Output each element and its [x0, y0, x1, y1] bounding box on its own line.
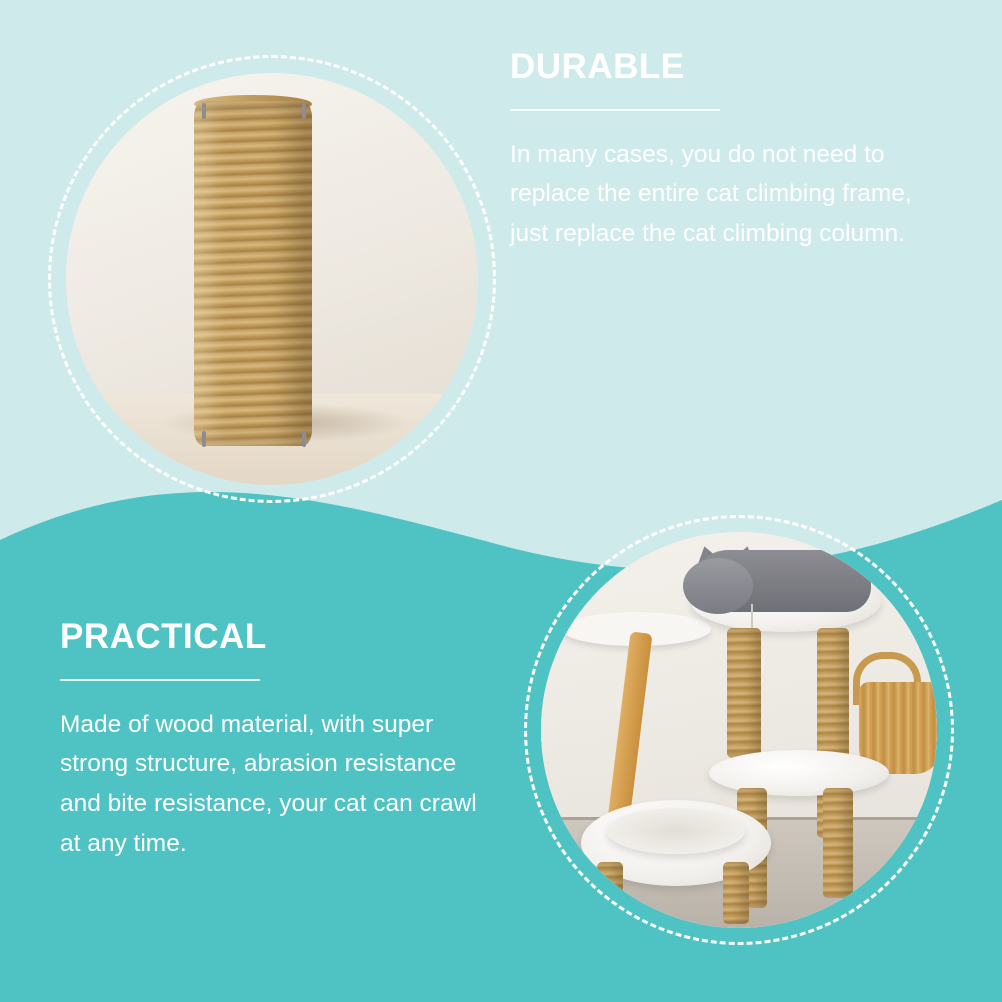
durable-body-text: In many cases, you do not need to replac…: [510, 135, 940, 254]
durable-text-block: DURABLE In many cases, you do not need t…: [510, 48, 940, 254]
practical-text-block: PRACTICAL Made of wood material, with su…: [60, 618, 490, 863]
photo-dashed-ring-rope: [48, 55, 496, 503]
practical-divider: [60, 679, 260, 681]
durable-divider: [510, 109, 720, 111]
durable-heading: DURABLE: [510, 48, 940, 87]
cat-on-cat-tree-photo: [524, 515, 954, 945]
product-feature-poster: DURABLE In many cases, you do not need t…: [0, 0, 1002, 1002]
practical-body-text: Made of wood material, with super strong…: [60, 705, 490, 864]
practical-heading: PRACTICAL: [60, 618, 490, 657]
photo-dashed-ring-cattree: [524, 515, 954, 945]
sisal-rope-scratching-post-photo: [48, 55, 496, 503]
